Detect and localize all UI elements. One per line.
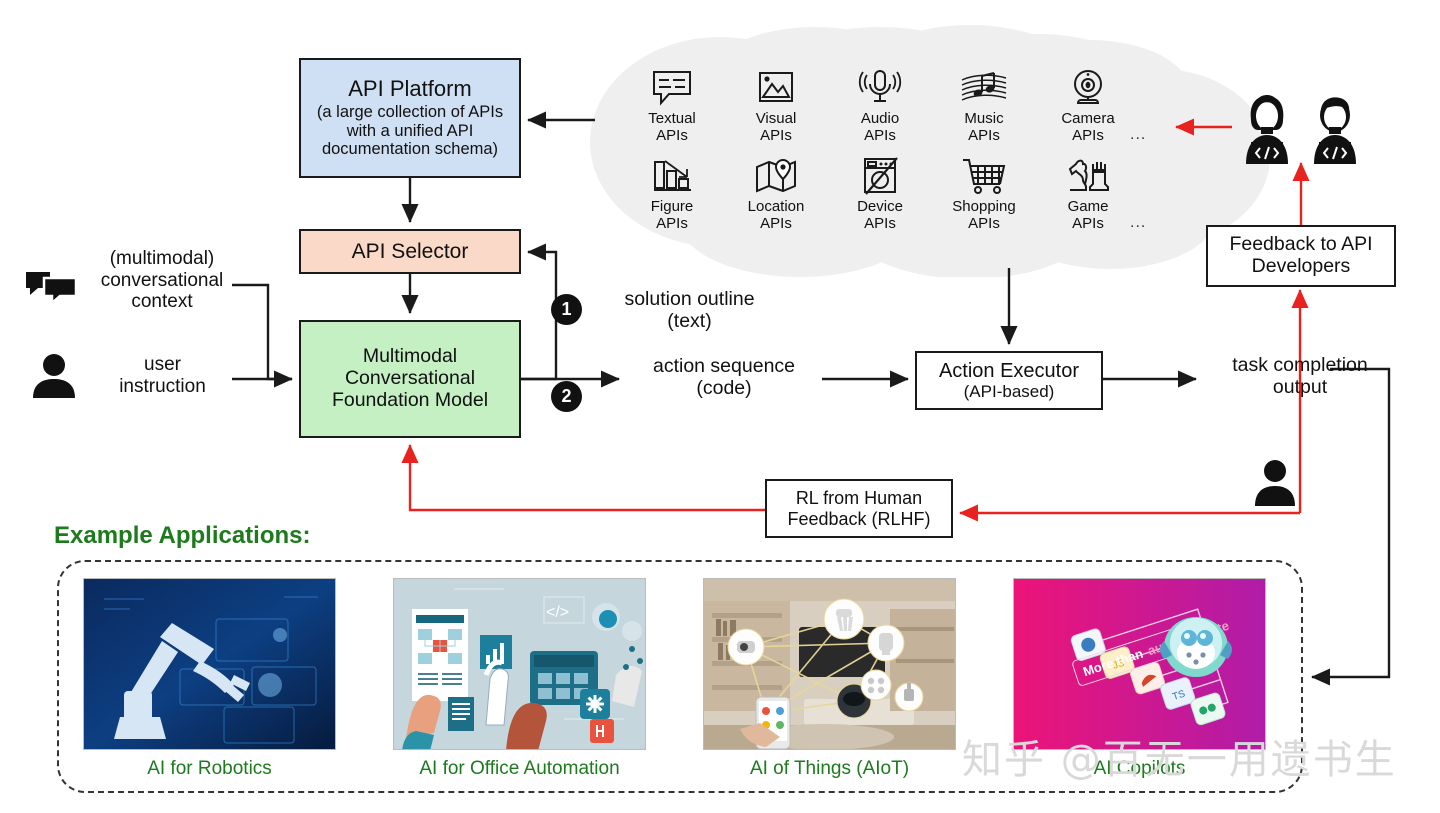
- context-line1: (multimodal): [82, 248, 242, 270]
- textual-api-icon: [649, 68, 695, 108]
- rlhf-line2: Feedback (RLHF): [787, 509, 930, 529]
- audio-api-icon: [857, 68, 903, 108]
- application-caption: AI for Robotics: [83, 758, 336, 780]
- developer-male-icon: [1304, 94, 1366, 171]
- api-item-visual[interactable]: Visual APIs: [724, 68, 828, 144]
- api-item-audio[interactable]: Audio APIs: [828, 68, 932, 144]
- user-instruction-label: user instruction: [90, 354, 235, 397]
- human-feedback-person-icon: [1252, 458, 1298, 511]
- api-label: Visual: [756, 111, 797, 128]
- api-item-shopping[interactable]: Shopping APIs: [932, 156, 1036, 232]
- api-platform-box[interactable]: API Platform (a large collection of APIs…: [299, 58, 521, 178]
- api-item-figure[interactable]: Figure APIs: [620, 156, 724, 232]
- api-platform-title: API Platform: [348, 77, 471, 102]
- api-label: Figure: [651, 199, 694, 216]
- task-completion-label: task completion output: [1200, 354, 1400, 398]
- user-instruction-line1: user: [90, 354, 235, 376]
- smart-home-photo: [703, 578, 956, 750]
- conversational-context-label: (multimodal) conversational context: [82, 248, 242, 313]
- game-api-icon: [1064, 156, 1112, 196]
- step-badge-2: 2: [551, 381, 582, 412]
- foundation-model-line3: Foundation Model: [332, 390, 488, 412]
- api-item-device[interactable]: Device APIs: [828, 156, 932, 232]
- svg-text:</>: </>: [546, 604, 569, 621]
- application-caption: AI of Things (AIoT): [703, 758, 956, 780]
- api-platform-sub3: documentation schema): [322, 140, 498, 158]
- api-label-sub: APIs: [748, 216, 805, 233]
- office-automation-illustration: </>: [393, 578, 646, 750]
- watermark: 知乎 @百无一用遗书生: [962, 727, 1397, 785]
- context-line3: context: [82, 291, 242, 313]
- api-label-sub: APIs: [1061, 128, 1114, 145]
- action-sequence-line2: (code): [628, 377, 820, 399]
- action-executor-line1: Action Executor: [939, 360, 1079, 382]
- api-label-sub: APIs: [857, 216, 903, 233]
- api-label: Location: [748, 199, 805, 216]
- api-label: Game: [1068, 199, 1109, 216]
- device-api-icon: [857, 156, 903, 196]
- context-line2: conversational: [82, 270, 242, 292]
- api-label: Music: [964, 111, 1003, 128]
- api-platform-sub2: with a unified API: [347, 122, 474, 140]
- music-api-icon: [959, 68, 1009, 108]
- api-selector-box[interactable]: API Selector: [299, 229, 521, 274]
- api-label: Textual: [648, 111, 696, 128]
- chat-bubbles-icon: [24, 268, 80, 313]
- api-category-grid: Textual APIs Visual APIs: [620, 68, 1140, 232]
- rlhf-box[interactable]: RL from Human Feedback (RLHF): [765, 479, 953, 538]
- api-item-music[interactable]: Music APIs: [932, 68, 1036, 144]
- api-label-sub: APIs: [952, 216, 1015, 233]
- api-label-sub: APIs: [964, 128, 1003, 145]
- location-api-icon: [753, 156, 799, 196]
- api-label-sub: APIs: [861, 128, 899, 145]
- api-item-game[interactable]: Game APIs: [1036, 156, 1140, 232]
- api-label: Shopping: [952, 199, 1015, 216]
- developer-female-icon: [1236, 94, 1298, 171]
- copilot-banner: JS TS More than autocomplete: [1013, 578, 1266, 750]
- api-item-textual[interactable]: Textual APIs: [620, 68, 724, 144]
- api-label: Audio: [861, 111, 899, 128]
- robot-arm-photo: [83, 578, 336, 750]
- visual-api-icon: [753, 68, 799, 108]
- api-label: Device: [857, 199, 903, 216]
- solution-outline-label: solution outline (text): [597, 288, 782, 332]
- api-label-sub: APIs: [651, 216, 694, 233]
- foundation-model-line2: Conversational: [345, 368, 475, 390]
- application-card-aiot[interactable]: AI of Things (AIoT): [703, 578, 956, 780]
- api-label-sub: APIs: [648, 128, 696, 145]
- api-label-sub: APIs: [756, 128, 797, 145]
- camera-api-icon: [1065, 68, 1111, 108]
- ellipsis-row-1: ...: [1130, 126, 1146, 144]
- api-item-camera[interactable]: Camera APIs: [1036, 68, 1140, 144]
- solution-outline-line2: (text): [597, 310, 782, 332]
- user-instruction-line2: instruction: [90, 376, 235, 398]
- ellipsis-row-2: ...: [1130, 214, 1146, 232]
- shopping-api-icon: [960, 156, 1008, 196]
- rlhf-line1: RL from Human: [796, 488, 922, 508]
- application-caption: AI for Office Automation: [393, 758, 646, 780]
- api-item-location[interactable]: Location APIs: [724, 156, 828, 232]
- action-executor-line2: (API-based): [964, 382, 1055, 401]
- feedback-dev-line2: Developers: [1252, 256, 1351, 278]
- feedback-dev-line1: Feedback to API: [1229, 234, 1372, 256]
- api-selector-label: API Selector: [352, 240, 469, 264]
- figure-api-icon: [649, 156, 695, 196]
- action-sequence-line1: action sequence: [628, 355, 820, 377]
- step-badge-1: 1: [551, 294, 582, 325]
- solution-outline-line1: solution outline: [597, 288, 782, 310]
- action-executor-box[interactable]: Action Executor (API-based): [915, 351, 1103, 410]
- application-card-office[interactable]: </> AI for Office Automation: [393, 578, 646, 780]
- task-completion-line1: task completion: [1200, 354, 1400, 376]
- task-completion-line2: output: [1200, 376, 1400, 398]
- action-sequence-label: action sequence (code): [628, 355, 820, 399]
- example-applications-title: Example Applications:: [54, 522, 311, 549]
- application-card-robotics[interactable]: AI for Robotics: [83, 578, 336, 780]
- api-label-sub: APIs: [1068, 216, 1109, 233]
- feedback-to-developers-box[interactable]: Feedback to API Developers: [1206, 225, 1396, 287]
- foundation-model-line1: Multimodal: [363, 346, 457, 368]
- api-label: Camera: [1061, 111, 1114, 128]
- foundation-model-box[interactable]: Multimodal Conversational Foundation Mod…: [299, 320, 521, 438]
- user-person-icon: [30, 352, 78, 403]
- api-platform-sub1: (a large collection of APIs: [317, 103, 503, 121]
